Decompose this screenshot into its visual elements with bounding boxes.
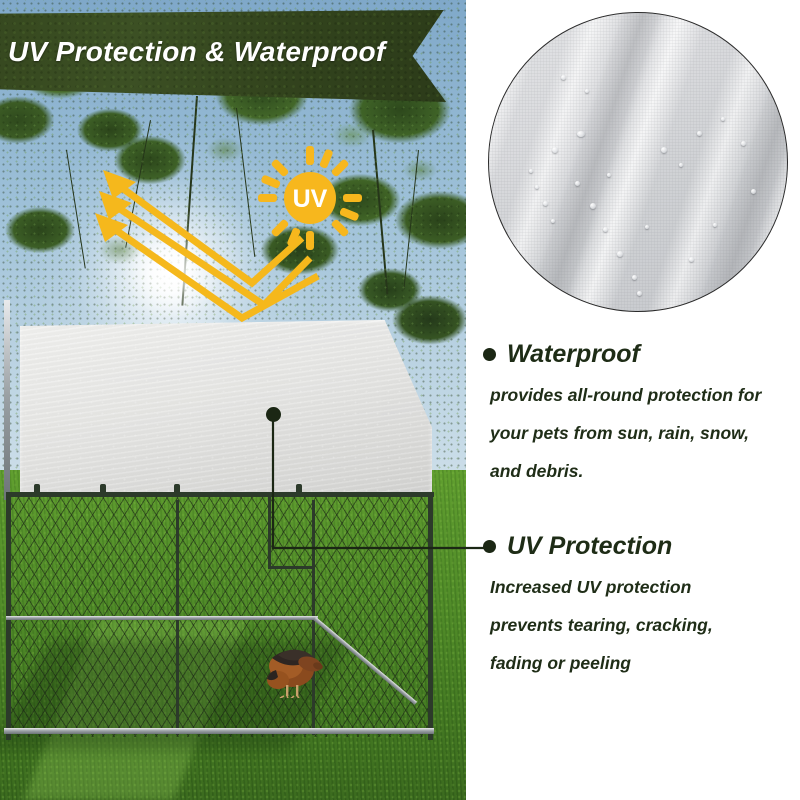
coop-frame-bottom-rail — [4, 728, 434, 734]
waterproof-fabric-closeup — [488, 12, 788, 312]
water-droplet — [543, 201, 548, 206]
water-droplet — [713, 223, 717, 227]
coop-frame-post — [4, 300, 10, 500]
water-droplets — [489, 13, 787, 311]
water-droplet — [679, 163, 683, 167]
feature-body: provides all-round protection for your p… — [490, 376, 800, 490]
banner-title: UV Protection & Waterproof — [8, 36, 386, 68]
water-droplet — [603, 227, 608, 232]
water-droplet — [577, 131, 585, 137]
callout-anchor-dot-tarp — [266, 407, 281, 422]
water-droplet — [741, 141, 746, 146]
water-droplet — [751, 189, 756, 194]
feature-bullet-icon — [483, 540, 496, 553]
banner-ribbon: UV Protection & Waterproof — [0, 10, 470, 102]
water-droplet — [607, 173, 611, 177]
tarp-clip — [296, 484, 302, 495]
water-droplet — [590, 203, 596, 209]
feature-bullet-icon — [483, 348, 496, 361]
water-droplet — [535, 185, 539, 189]
feature-waterproof: Waterproof provides all-round protection… — [466, 340, 800, 490]
chicken — [256, 630, 328, 698]
feature-body-line: provides all-round protection for — [490, 376, 800, 414]
feature-title: UV Protection — [507, 532, 672, 561]
feature-heading: UV Protection — [483, 532, 800, 561]
feature-uv-protection: UV Protection Increased UV protection pr… — [466, 532, 800, 682]
feature-body-line: Increased UV protection — [490, 568, 800, 606]
feature-title: Waterproof — [507, 340, 640, 369]
water-droplet — [585, 89, 589, 93]
water-droplet — [721, 117, 725, 121]
water-droplet — [637, 291, 642, 296]
feature-body: Increased UV protection prevents tearing… — [490, 568, 800, 682]
tarp-clip — [100, 484, 106, 495]
water-droplet — [689, 257, 694, 262]
coop-frame-door-edge — [268, 566, 312, 569]
feature-body-line: fading or peeling — [490, 644, 800, 682]
product-infographic: UV — [0, 0, 800, 800]
feature-body-line: your pets from sun, rain, snow, — [490, 414, 800, 452]
coop-frame-post-right — [428, 492, 433, 740]
feature-body-line: prevents tearing, cracking, — [490, 606, 800, 644]
product-photo: UV — [0, 0, 466, 800]
feature-body-line: and debris. — [490, 452, 800, 490]
water-droplet — [529, 169, 533, 173]
water-droplet — [551, 219, 555, 223]
water-droplet — [697, 131, 702, 136]
water-droplet — [661, 147, 667, 153]
waterproof-cover-tarp — [20, 320, 432, 496]
uv-icon-label: UV — [293, 185, 328, 213]
water-droplet — [561, 75, 566, 80]
tarp-texture — [20, 320, 432, 496]
coop-frame-top-rail — [6, 492, 434, 497]
water-droplet — [617, 251, 623, 257]
water-droplet — [645, 225, 649, 229]
feature-heading: Waterproof — [483, 340, 800, 369]
uv-arrow-heads — [95, 170, 136, 242]
tarp-clip — [34, 484, 40, 495]
info-panel: Waterproof provides all-round protection… — [466, 0, 800, 800]
coop-frame-door-edge — [268, 497, 271, 569]
water-droplet — [575, 181, 580, 186]
water-droplet — [632, 275, 637, 280]
tarp-clip — [174, 484, 180, 495]
water-droplet — [552, 147, 558, 153]
coop-frame-diagonal-rail — [6, 616, 318, 620]
